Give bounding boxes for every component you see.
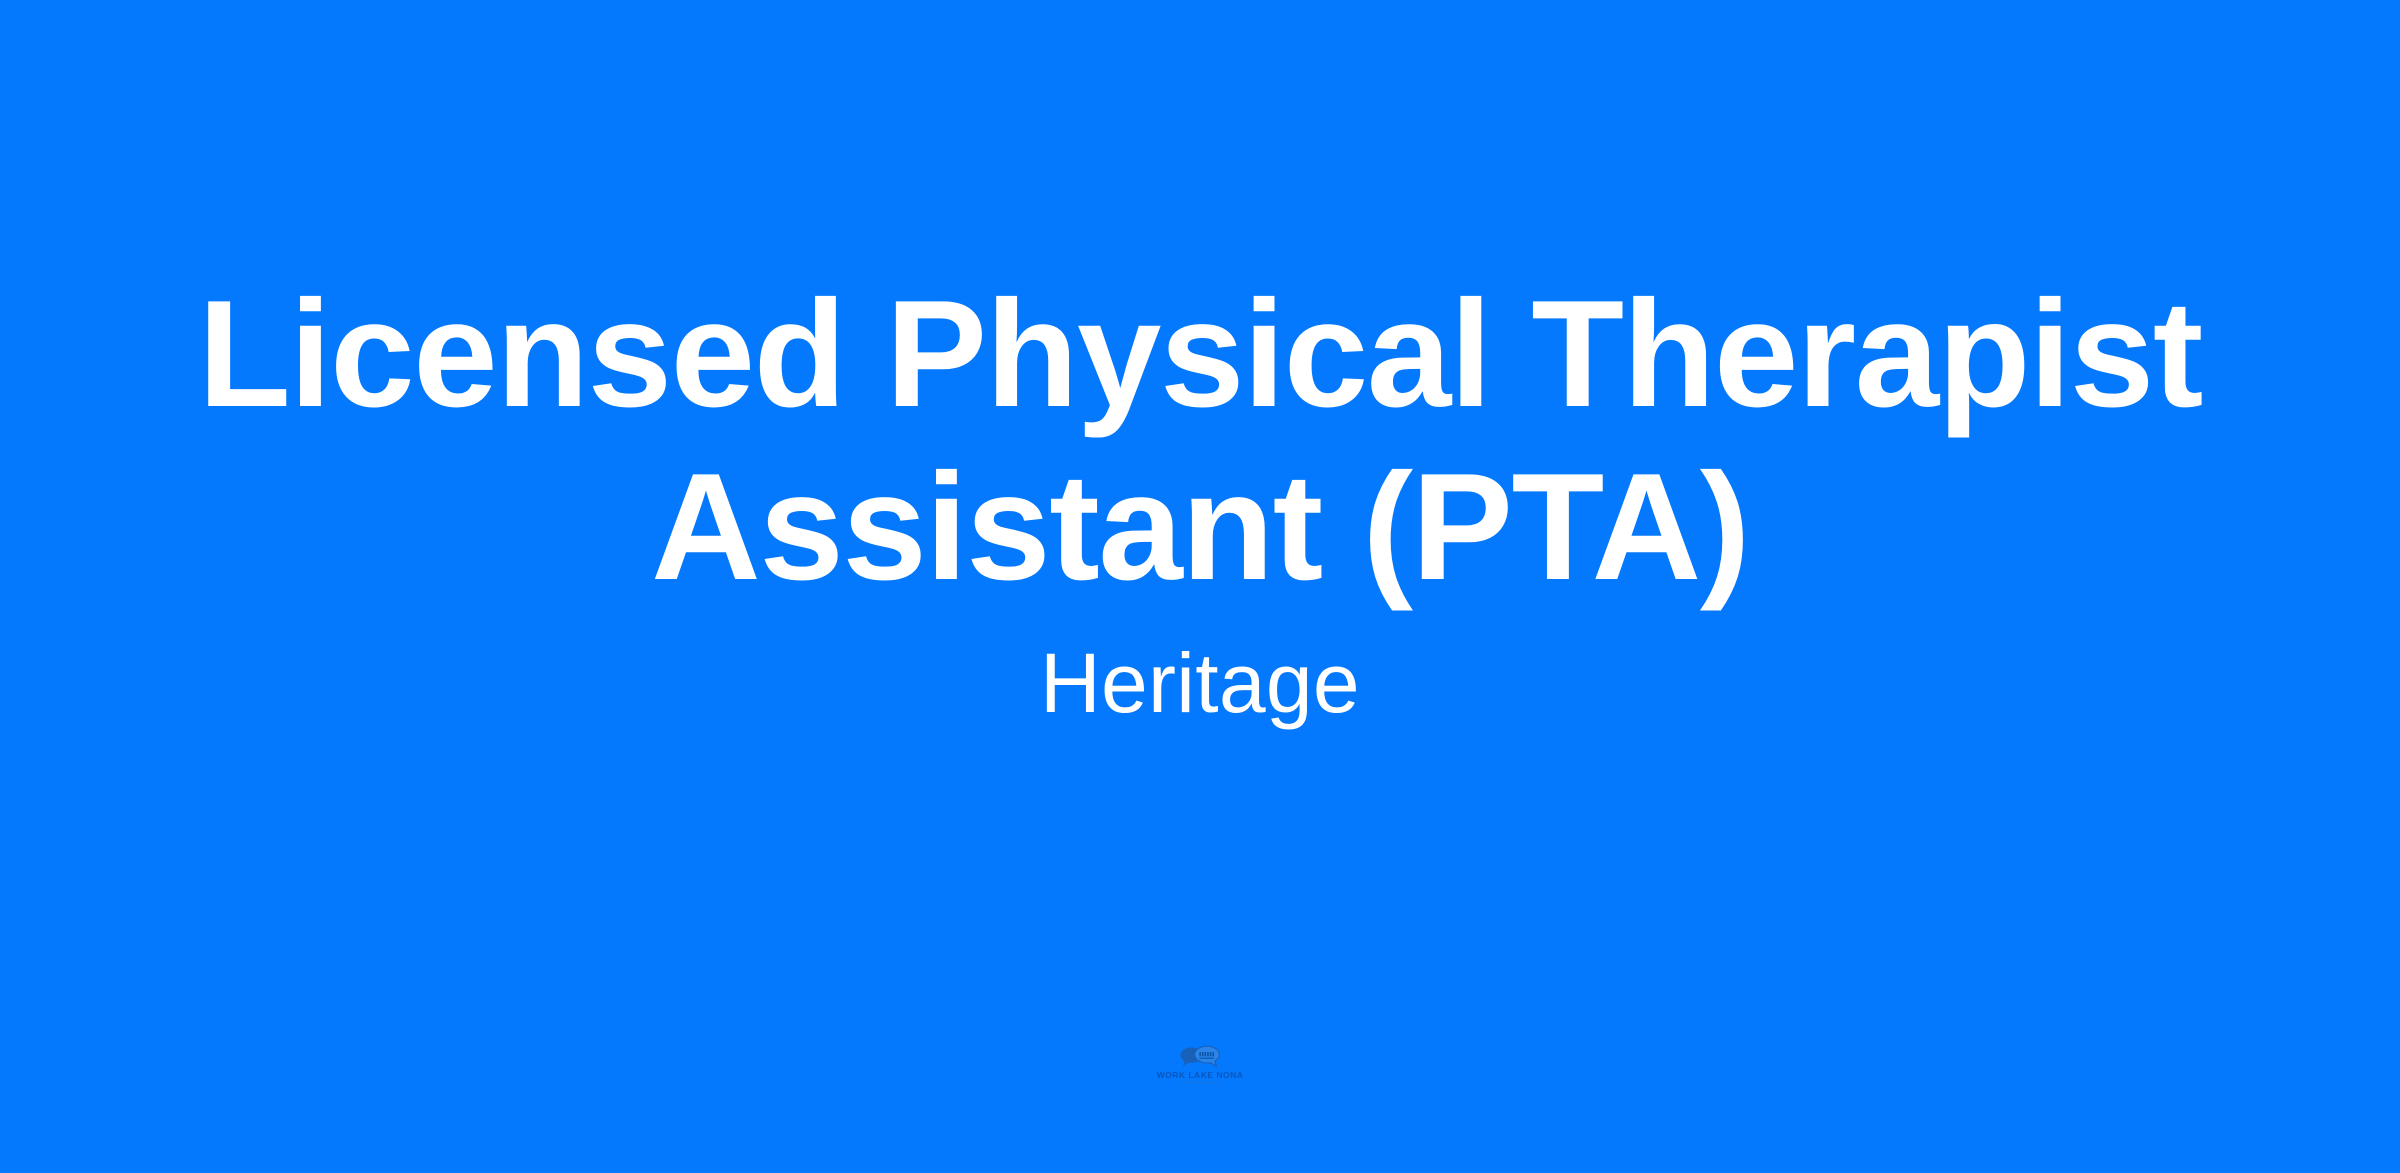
heading-block: Licensed Physical Therapist Assistant (P… (0, 268, 2400, 729)
logo-wordmark: WORK LAKE NONA (1157, 1071, 1244, 1080)
title-card: Licensed Physical Therapist Assistant (P… (0, 0, 2400, 1173)
subtitle: Heritage (120, 637, 2280, 729)
speech-bubbles-icon (1177, 1044, 1223, 1070)
page-title: Licensed Physical Therapist Assistant (P… (120, 268, 2280, 615)
logo-tagline: LIVE WORK PLAY (1180, 1081, 1220, 1086)
footer-logo: WORK LAKE NONA LIVE WORK PLAY (1140, 1044, 1260, 1086)
